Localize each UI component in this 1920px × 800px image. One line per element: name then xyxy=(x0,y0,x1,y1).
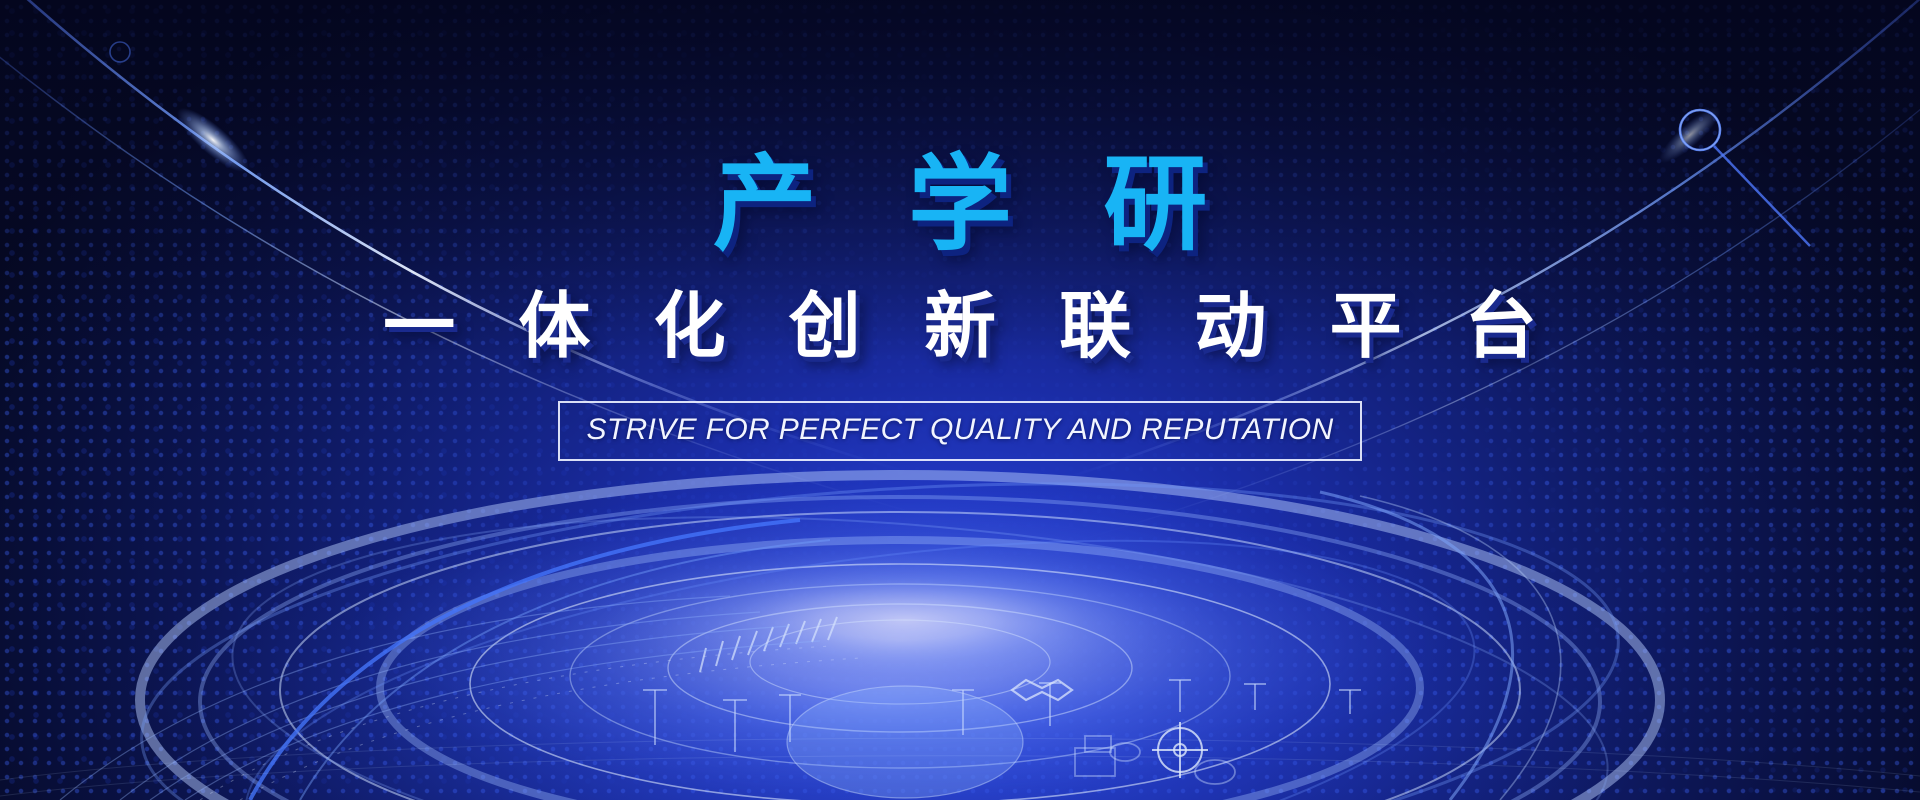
page-subtitle: 一 体 化 创 新 联 动 平 台 xyxy=(362,288,1559,367)
tagline-box: STRIVE FOR PERFECT QUALITY AND REPUTATIO… xyxy=(558,401,1361,461)
banner-content: 产 学 研 一 体 化 创 新 联 动 平 台 STRIVE FOR PERFE… xyxy=(0,0,1920,800)
page-title: 产 学 研 xyxy=(682,150,1239,260)
tech-hero-banner: 产 学 研 一 体 化 创 新 联 动 平 台 STRIVE FOR PERFE… xyxy=(0,0,1920,800)
english-tagline: STRIVE FOR PERFECT QUALITY AND REPUTATIO… xyxy=(586,413,1333,447)
